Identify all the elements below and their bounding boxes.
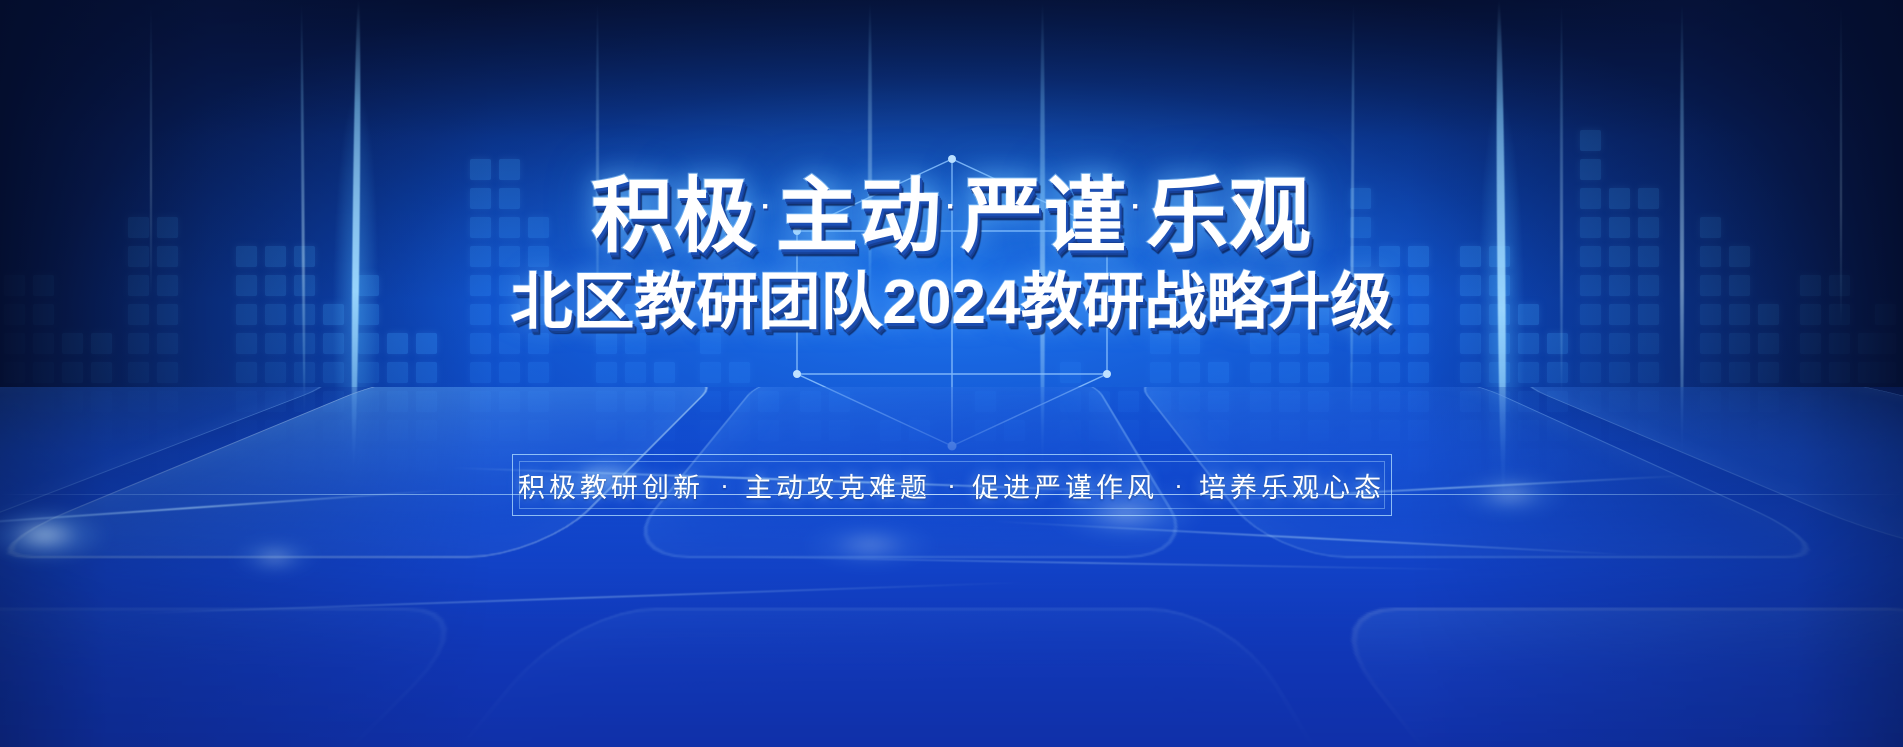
banner-content: 积极·主动·严谨·乐观 北区教研团队2024教研战略升级 [0, 0, 1903, 747]
headline-word: 主动 [776, 176, 942, 258]
subheadline: 北区教研团队2024教研战略升级 [511, 272, 1393, 334]
headline-separator: · [761, 192, 772, 222]
headline-word: 乐观 [1146, 176, 1312, 258]
headline-word: 积极 [591, 176, 757, 258]
headline-separator: · [946, 192, 957, 222]
promo-banner: 积极·主动·严谨·乐观 北区教研团队2024教研战略升级 积极教研创新·主动攻克… [0, 0, 1903, 747]
headline-word: 严谨 [961, 176, 1127, 258]
headline: 积极·主动·严谨·乐观 [591, 176, 1312, 258]
headline-separator: · [1131, 192, 1142, 222]
